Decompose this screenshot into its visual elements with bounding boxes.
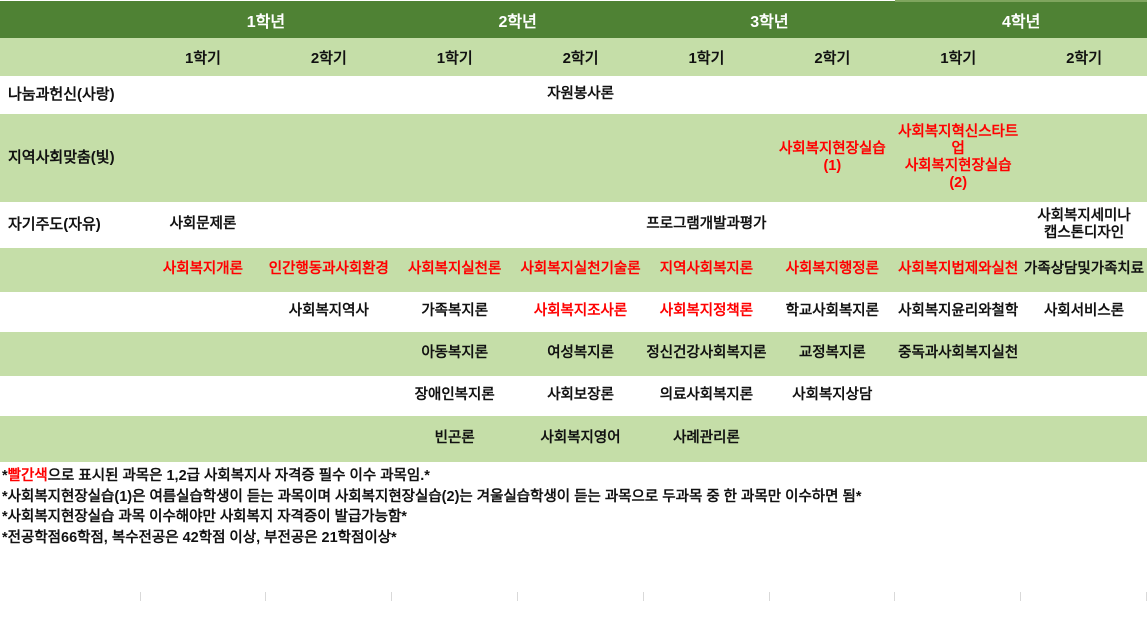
course-cell-y1s2 [266, 332, 392, 376]
course-cell-y3s2 [769, 416, 895, 462]
footnote-line-4: *전공학점66학점, 복수전공은 42학점 이상, 부전공은 21학점이상* [2, 528, 1147, 549]
course-cell-y2s2: 여성복지론 [518, 332, 644, 376]
course-cell-y3s1 [644, 76, 770, 114]
course-cell-y4s2 [1021, 76, 1147, 114]
table-header: 1학년 2학년 3학년 4학년 1학기 2학기 1학기 2학기 1학기 2학기 … [0, 1, 1147, 76]
semester-header-row: 1학기 2학기 1학기 2학기 1학기 2학기 1학기 2학기 [0, 38, 1147, 76]
course-cell-y3s2 [769, 202, 895, 248]
course-cell-y4s2 [1021, 114, 1147, 202]
table-row: 빈곤론사회복지영어사례관리론 [0, 416, 1147, 462]
course-cell-y2s1: 빈곤론 [392, 416, 518, 462]
course-cell-y4s2: 사회복지세미나캡스톤디자인 [1021, 202, 1147, 248]
table-row: 사회복지역사가족복지론사회복지조사론사회복지정책론학교사회복지론사회복지윤리와철… [0, 292, 1147, 332]
course-cell-y4s1 [895, 416, 1021, 462]
course-cell-y4s2: 가족상담및가족치료 [1021, 248, 1147, 292]
course-cell-y3s1 [644, 114, 770, 202]
semester-header-y4s1: 1학기 [895, 38, 1021, 76]
course-cell-y3s2: 사회복지현장실습(1) [769, 114, 895, 202]
track-label-cell [0, 248, 140, 292]
footnote-line-2: *사회복지현장실습(1)은 여름실습학생이 듣는 과목이며 사회복지현장실습(2… [2, 487, 1147, 508]
course-cell-y1s1 [140, 76, 266, 114]
year-header-4: 4학년 [895, 1, 1147, 38]
course-cell-y1s1 [140, 292, 266, 332]
course-cell-y1s2 [266, 114, 392, 202]
course-cell-y1s1 [140, 114, 266, 202]
course-cell-y4s2 [1021, 376, 1147, 416]
track-label-cell [0, 332, 140, 376]
curriculum-table: 1학년 2학년 3학년 4학년 1학기 2학기 1학기 2학기 1학기 2학기 … [0, 0, 1147, 462]
course-cell-y1s1: 사회문제론 [140, 202, 266, 248]
semester-header-y2s1: 1학기 [392, 38, 518, 76]
course-cell-y2s1: 장애인복지론 [392, 376, 518, 416]
course-cell-y3s2: 사회복지행정론 [769, 248, 895, 292]
course-cell-y4s2 [1021, 332, 1147, 376]
course-cell-y1s1: 사회복지개론 [140, 248, 266, 292]
table-row: 자기주도(자유)사회문제론프로그램개발과평가사회복지세미나캡스톤디자인 [0, 202, 1147, 248]
curriculum-page: 1학년 2학년 3학년 4학년 1학기 2학기 1학기 2학기 1학기 2학기 … [0, 0, 1147, 619]
course-cell-y3s1: 정신건강사회복지론 [644, 332, 770, 376]
track-label-cell [0, 416, 140, 462]
course-cell-y3s2: 학교사회복지론 [769, 292, 895, 332]
semester-header-y4s2: 2학기 [1021, 38, 1147, 76]
course-cell-y4s2 [1021, 416, 1147, 462]
course-cell-y4s1: 사회복지법제와실천 [895, 248, 1021, 292]
course-cell-y2s2 [518, 202, 644, 248]
table-row: 장애인복지론사회보장론의료사회복지론사회복지상담 [0, 376, 1147, 416]
track-label-cell [0, 292, 140, 332]
course-cell-y3s2: 교정복지론 [769, 332, 895, 376]
course-cell-y1s2 [266, 76, 392, 114]
column-tick-marks [0, 592, 1147, 602]
course-cell-y2s1: 가족복지론 [392, 292, 518, 332]
track-label-cell: 지역사회맞춤(빛) [0, 114, 140, 202]
semester-header-y2s2: 2학기 [518, 38, 644, 76]
course-cell-y3s1: 사례관리론 [644, 416, 770, 462]
course-cell-y1s2 [266, 376, 392, 416]
course-cell-y3s1: 지역사회복지론 [644, 248, 770, 292]
course-cell-y1s2: 사회복지역사 [266, 292, 392, 332]
course-cell-y4s1: 사회복지혁신스타트업사회복지현장실습(2) [895, 114, 1021, 202]
footnote-line-1: *빨간색으로 표시된 과목은 1,2급 사회복지사 자격증 필수 이수 과목임.… [2, 466, 1147, 487]
course-cell-y4s1: 중독과사회복지실천 [895, 332, 1021, 376]
course-cell-y1s1 [140, 376, 266, 416]
course-cell-y2s2: 사회복지조사론 [518, 292, 644, 332]
table-row: 나눔과헌신(사랑)자원봉사론 [0, 76, 1147, 114]
course-cell-y4s2: 사회서비스론 [1021, 292, 1147, 332]
course-cell-y3s2 [769, 76, 895, 114]
semester-header-y1s1: 1학기 [140, 38, 266, 76]
table-body: 나눔과헌신(사랑)자원봉사론지역사회맞춤(빛)사회복지현장실습(1)사회복지혁신… [0, 76, 1147, 462]
course-cell-y2s1 [392, 114, 518, 202]
course-cell-y2s2: 자원봉사론 [518, 76, 644, 114]
semester-corner-cell [0, 38, 140, 76]
course-cell-y4s1: 사회복지윤리와철학 [895, 292, 1021, 332]
course-cell-y3s1: 의료사회복지론 [644, 376, 770, 416]
table-row: 아동복지론여성복지론정신건강사회복지론교정복지론중독과사회복지실천 [0, 332, 1147, 376]
course-cell-y4s1 [895, 202, 1021, 248]
track-label-cell: 자기주도(자유) [0, 202, 140, 248]
course-cell-y1s2: 인간행동과사회환경 [266, 248, 392, 292]
course-cell-y2s2: 사회복지영어 [518, 416, 644, 462]
year-header-1: 1학년 [140, 1, 392, 38]
footnote-highlight: 빨간색 [8, 468, 48, 484]
table-row: 사회복지개론인간행동과사회환경사회복지실천론사회복지실천기술론지역사회복지론사회… [0, 248, 1147, 292]
semester-header-y3s2: 2학기 [769, 38, 895, 76]
footnote-line-3: *사회복지현장실습 과목 이수해야만 사회복지 자격증이 발급가능함* [2, 507, 1147, 528]
course-cell-y1s1 [140, 332, 266, 376]
semester-header-y3s1: 1학기 [644, 38, 770, 76]
course-cell-y2s2 [518, 114, 644, 202]
course-cell-y3s1: 프로그램개발과평가 [644, 202, 770, 248]
table-row: 지역사회맞춤(빛)사회복지현장실습(1)사회복지혁신스타트업사회복지현장실습(2… [0, 114, 1147, 202]
course-cell-y2s1: 사회복지실천론 [392, 248, 518, 292]
course-cell-y2s2: 사회복지실천기술론 [518, 248, 644, 292]
year-header-3: 3학년 [644, 1, 896, 38]
course-cell-y3s1: 사회복지정책론 [644, 292, 770, 332]
course-cell-y3s2: 사회복지상담 [769, 376, 895, 416]
course-cell-y1s2 [266, 416, 392, 462]
year-header-2: 2학년 [392, 1, 644, 38]
track-label-cell: 나눔과헌신(사랑) [0, 76, 140, 114]
track-label-cell [0, 376, 140, 416]
course-cell-y4s1 [895, 376, 1021, 416]
course-cell-y2s1 [392, 76, 518, 114]
header-corner-cell [0, 1, 140, 38]
course-cell-y2s1: 아동복지론 [392, 332, 518, 376]
semester-header-y1s2: 2학기 [266, 38, 392, 76]
year-header-row: 1학년 2학년 3학년 4학년 [0, 1, 1147, 38]
course-cell-y1s1 [140, 416, 266, 462]
footnote-block: *빨간색으로 표시된 과목은 1,2급 사회복지사 자격증 필수 이수 과목임.… [0, 462, 1147, 548]
course-cell-y2s1 [392, 202, 518, 248]
course-cell-y2s2: 사회보장론 [518, 376, 644, 416]
course-cell-y1s2 [266, 202, 392, 248]
course-cell-y4s1 [895, 76, 1021, 114]
